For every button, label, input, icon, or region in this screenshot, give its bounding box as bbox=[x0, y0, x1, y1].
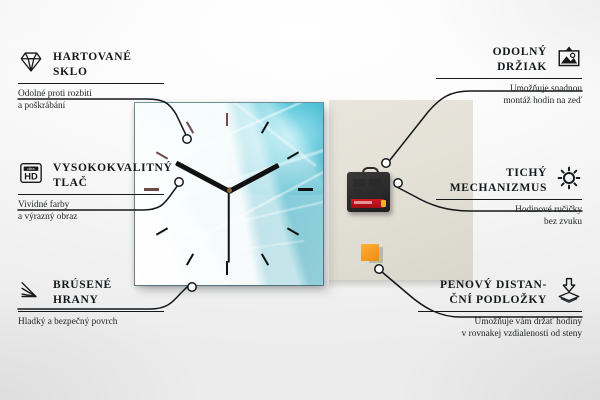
feature-title-line: HRANY bbox=[53, 293, 112, 308]
gear-icon bbox=[556, 165, 582, 191]
ultra-hd-icon: ultra HD bbox=[18, 160, 44, 186]
feature-desc-line: Hodinové ručičky bbox=[436, 204, 582, 216]
feature-title-line: ODOLNÝ bbox=[493, 45, 547, 60]
feature-desc-line: bez zvuku bbox=[436, 216, 582, 228]
feature-foam-spacers[interactable]: PENOVÝ DISTAN- ČNÍ PODLOŽKY Umožňuje vám… bbox=[418, 278, 582, 340]
feature-title-line: HARTOVANÉ bbox=[53, 50, 132, 65]
feature-desc-line: v rovnakej vzdialenosti od steny bbox=[418, 328, 582, 340]
feature-title-line: BRÚSENÉ bbox=[53, 278, 112, 293]
feature-rule bbox=[18, 194, 164, 195]
feature-rule bbox=[436, 78, 582, 79]
foam-pad bbox=[361, 244, 379, 261]
clock-mechanism bbox=[347, 172, 390, 212]
feature-rule bbox=[418, 311, 582, 312]
diamond-icon bbox=[18, 49, 44, 75]
press-down-icon bbox=[556, 277, 582, 303]
feature-title-line: SKLO bbox=[53, 65, 132, 80]
feature-desc-line: Hladký a bezpečný povrch bbox=[18, 316, 164, 328]
feature-title-line: VYSOKOKVALITNÝ bbox=[53, 161, 172, 176]
feature-durable-hanger[interactable]: ODOLNÝ DRŽIAK Umožňuje snadnou montáž ho… bbox=[436, 45, 582, 107]
clock-tick bbox=[226, 261, 228, 275]
feature-title-line: TICHÝ bbox=[450, 166, 547, 181]
clock-center-pivot bbox=[227, 188, 232, 193]
feature-desc-line: Vividné farby bbox=[18, 199, 164, 211]
feature-rule bbox=[436, 199, 582, 200]
ultra-hd-icon-bottom: HD bbox=[24, 172, 38, 182]
feature-desc-line: Umožňuje snadnou bbox=[436, 83, 582, 95]
feature-hardened-glass[interactable]: HARTOVANÉ SKLO Odolné proti rozbití a po… bbox=[18, 50, 164, 112]
product-scene bbox=[133, 99, 473, 294]
feature-desc-line: a výrazný obraz bbox=[18, 211, 164, 223]
feature-desc-line: Odolné proti rozbití bbox=[18, 88, 164, 100]
mechanism-battery bbox=[351, 199, 384, 208]
second-hand bbox=[228, 191, 230, 263]
feature-title-line: PENOVÝ DISTAN- bbox=[440, 278, 547, 293]
feature-title-line: TLAČ bbox=[53, 176, 172, 191]
infographic-canvas: HARTOVANÉ SKLO Odolné proti rozbití a po… bbox=[0, 0, 600, 400]
feature-title-line: DRŽIAK bbox=[493, 60, 547, 75]
feature-desc-line: montáž hodin na zeď bbox=[436, 95, 582, 107]
ground-edges-icon bbox=[18, 277, 44, 303]
feature-rule bbox=[18, 83, 164, 84]
ultra-hd-icon-top: ultra bbox=[27, 167, 35, 171]
feature-desc-line: a poškrábání bbox=[18, 100, 164, 112]
feature-rule bbox=[18, 311, 164, 312]
feature-ground-edges[interactable]: BRÚSENÉ HRANY Hladký a bezpečný povrch bbox=[18, 278, 164, 328]
feature-title-line: ČNÍ PODLOŽKY bbox=[440, 293, 547, 308]
picture-hanger-icon bbox=[556, 44, 582, 70]
feature-title-line: MECHANIZMUS bbox=[450, 181, 547, 196]
clock-tick bbox=[226, 113, 228, 126]
clock-tick bbox=[298, 188, 313, 191]
feature-desc-line: Umožňuje vám držať hodiny bbox=[418, 316, 582, 328]
feature-high-quality-print[interactable]: ultra HD VYSOKOKVALITNÝ TLAČ Vividné far… bbox=[18, 161, 164, 223]
feature-silent-mechanism[interactable]: TICHÝ MECHANIZMUS Hodinové ručičky bez z… bbox=[436, 166, 582, 228]
